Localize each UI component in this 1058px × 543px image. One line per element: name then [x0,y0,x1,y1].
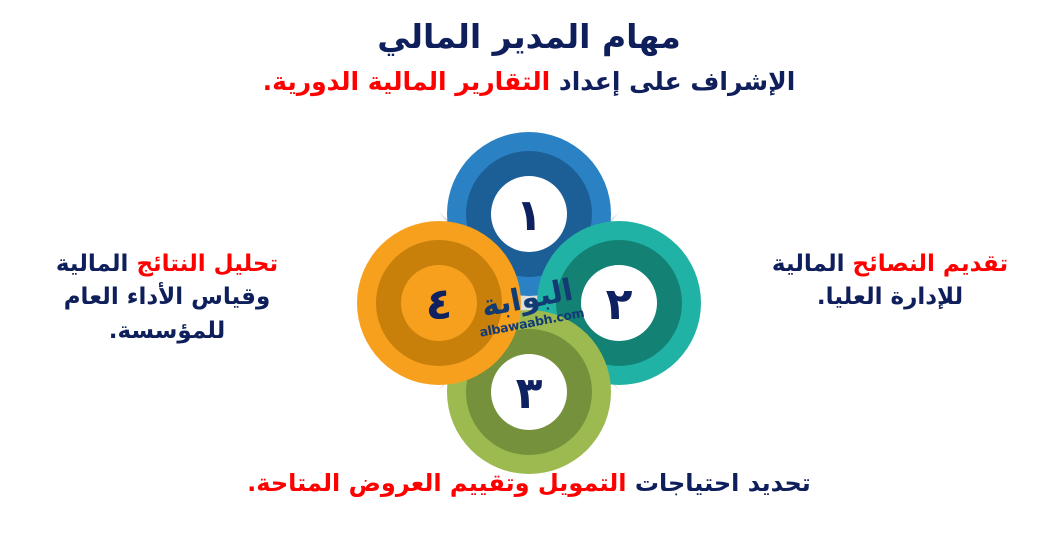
item-2-caption-red: تقديم النصائح [853,251,1009,277]
item-4-caption-line2: وقياس الأداء العام [22,281,312,314]
item-2-caption: تقديم النصائح المالية للإدارة العليا. [740,248,1040,315]
item-4-caption-line1: تحليل النتائج المالية [22,248,312,281]
circle-item-1-number: ١ [516,190,543,241]
circle-item-2-number: ٢ [606,279,633,330]
heading-block: مهام المدير المالي الإشراف على إعداد الت… [0,16,1058,99]
item-2-caption-navy-tail: المالية [772,251,845,277]
item-1-caption: الإشراف على إعداد التقارير المالية الدور… [0,66,1058,99]
item-4-caption-line3: للمؤسسة. [22,315,312,348]
infographic-canvas: مهام المدير المالي الإشراف على إعداد الت… [0,0,1058,543]
item-4-caption-red: تحليل النتائج [136,251,278,277]
page-title: مهام المدير المالي [0,16,1058,57]
circle-item-4-number: ٤ [426,279,453,330]
four-circle-diagram: ١ ٢ ٣ ٤ [329,126,729,476]
item-1-caption-red: التقارير المالية الدورية. [263,67,551,96]
item-2-caption-line1: تقديم النصائح المالية [740,248,1040,281]
item-1-caption-navy: الإشراف على إعداد [559,67,795,96]
item-4-caption-navy-tail: المالية [56,251,129,277]
circle-item-3-number: ٣ [516,368,543,419]
item-2-caption-line2: للإدارة العليا. [740,281,1040,314]
item-4-caption: تحليل النتائج المالية وقياس الأداء العام… [22,248,312,348]
